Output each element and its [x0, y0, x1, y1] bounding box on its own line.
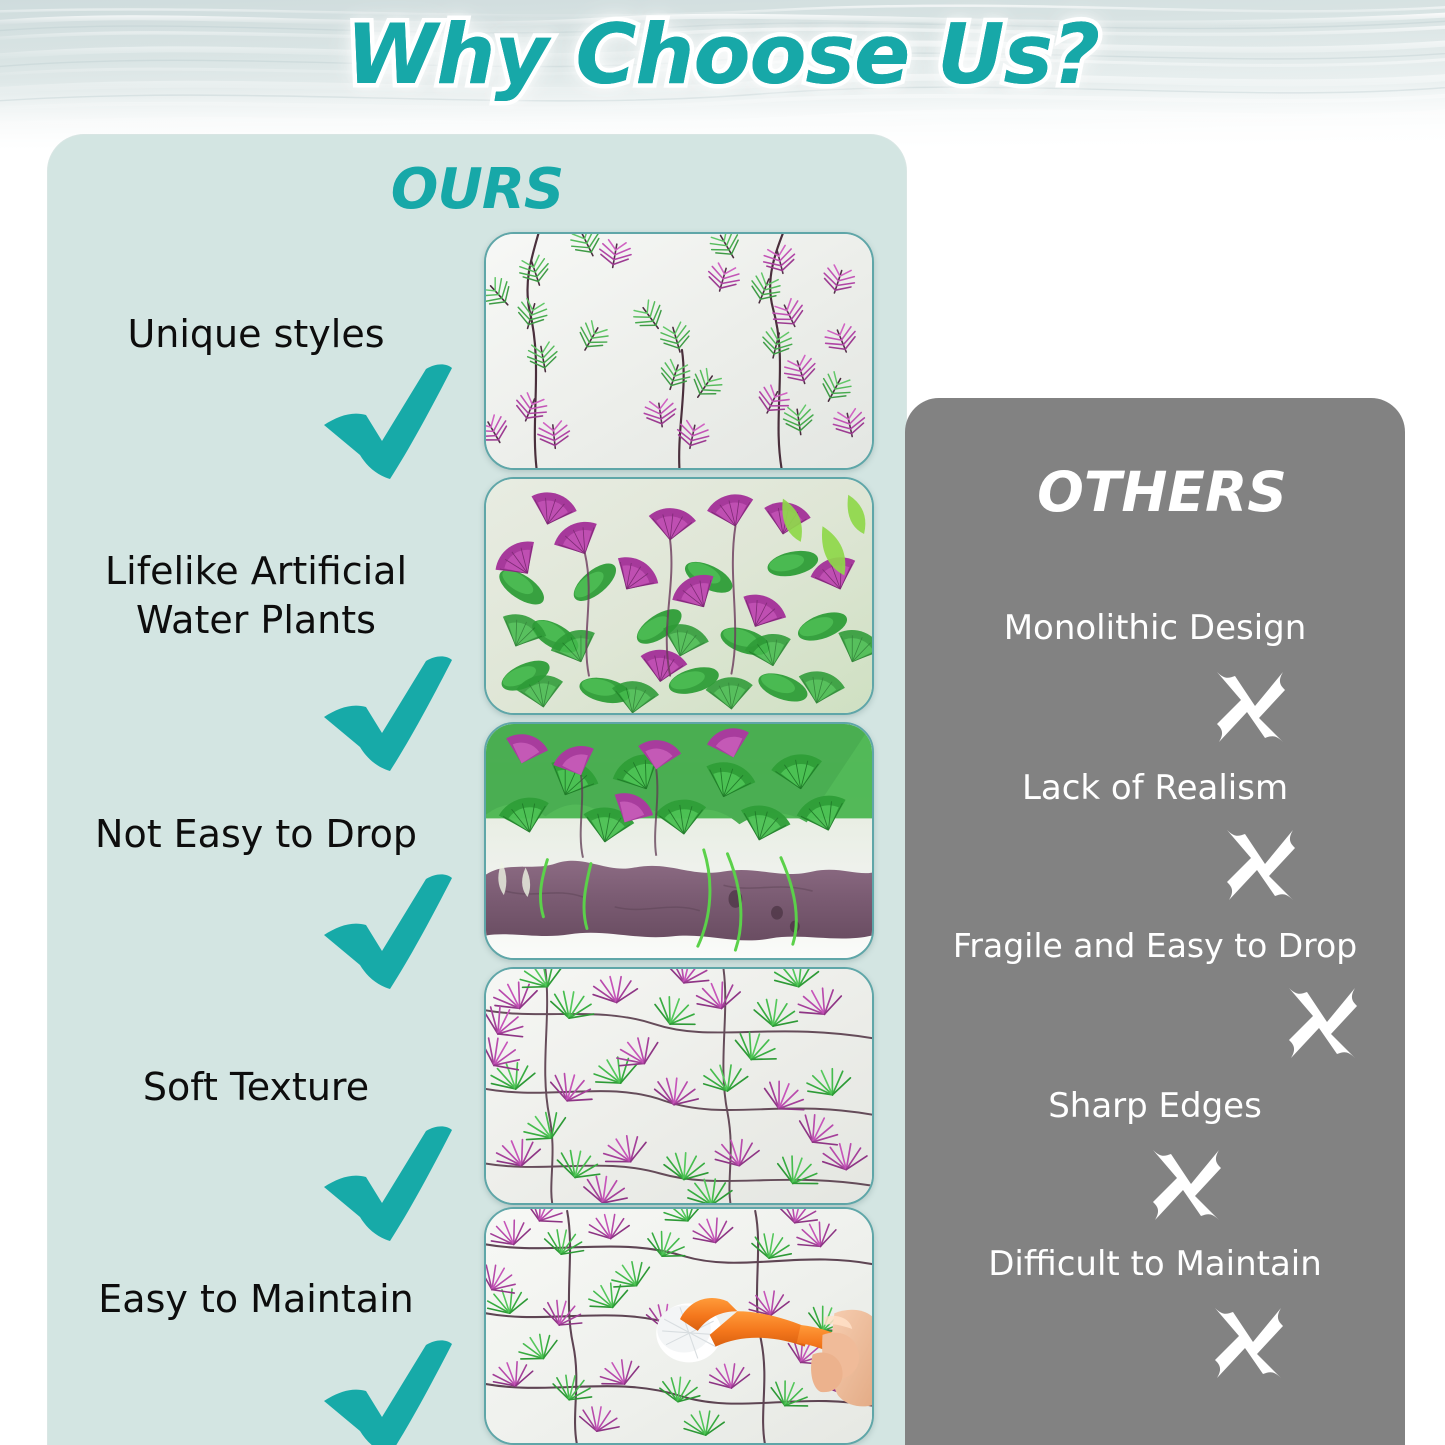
others-heading: OTHERS: [905, 460, 1405, 524]
others-panel: OTHERS Monolithic Design Lack of Realism…: [905, 398, 1405, 1445]
x-icon: [1209, 1304, 1287, 1382]
x-icon: [1221, 826, 1299, 904]
infographic-root: Why Choose Us? Why Choose Us? OURS Uniqu…: [0, 0, 1445, 1445]
ours-item-label: Soft Texture: [56, 1063, 456, 1112]
photo-soft-texture: [484, 967, 874, 1205]
others-item-label: Sharp Edges: [905, 1086, 1405, 1126]
others-item-label: Monolithic Design: [905, 608, 1405, 648]
x-icon: [1147, 1146, 1225, 1224]
photo-lifelike-plants: [484, 477, 874, 715]
page-title: Why Choose Us?: [0, 6, 1445, 103]
check-icon: [316, 873, 456, 991]
x-icon: [1283, 984, 1361, 1062]
ours-heading: OURS: [48, 157, 906, 222]
header-banner: Why Choose Us? Why Choose Us?: [0, 0, 1445, 150]
ours-item-label: Not Easy to Drop: [56, 810, 456, 859]
others-item-label: Fragile and Easy to Drop: [905, 926, 1405, 965]
check-icon: [316, 363, 456, 481]
ours-item-label: Lifelike Artificial Water Plants: [56, 547, 456, 644]
others-item-label: Difficult to Maintain: [905, 1244, 1405, 1284]
ours-panel: OURS Unique styles: [48, 135, 906, 1445]
x-icon: [1211, 668, 1289, 746]
photo-unique-styles: [484, 232, 874, 470]
check-icon: [316, 655, 456, 773]
photo-not-easy-to-drop: [484, 722, 874, 960]
check-icon: [316, 1125, 456, 1243]
ours-item-label: Unique styles: [56, 310, 456, 359]
ours-item-label: Easy to Maintain: [56, 1275, 456, 1324]
photo-easy-to-maintain: [484, 1207, 874, 1445]
check-icon: [316, 1339, 456, 1445]
others-item-label: Lack of Realism: [905, 768, 1405, 808]
